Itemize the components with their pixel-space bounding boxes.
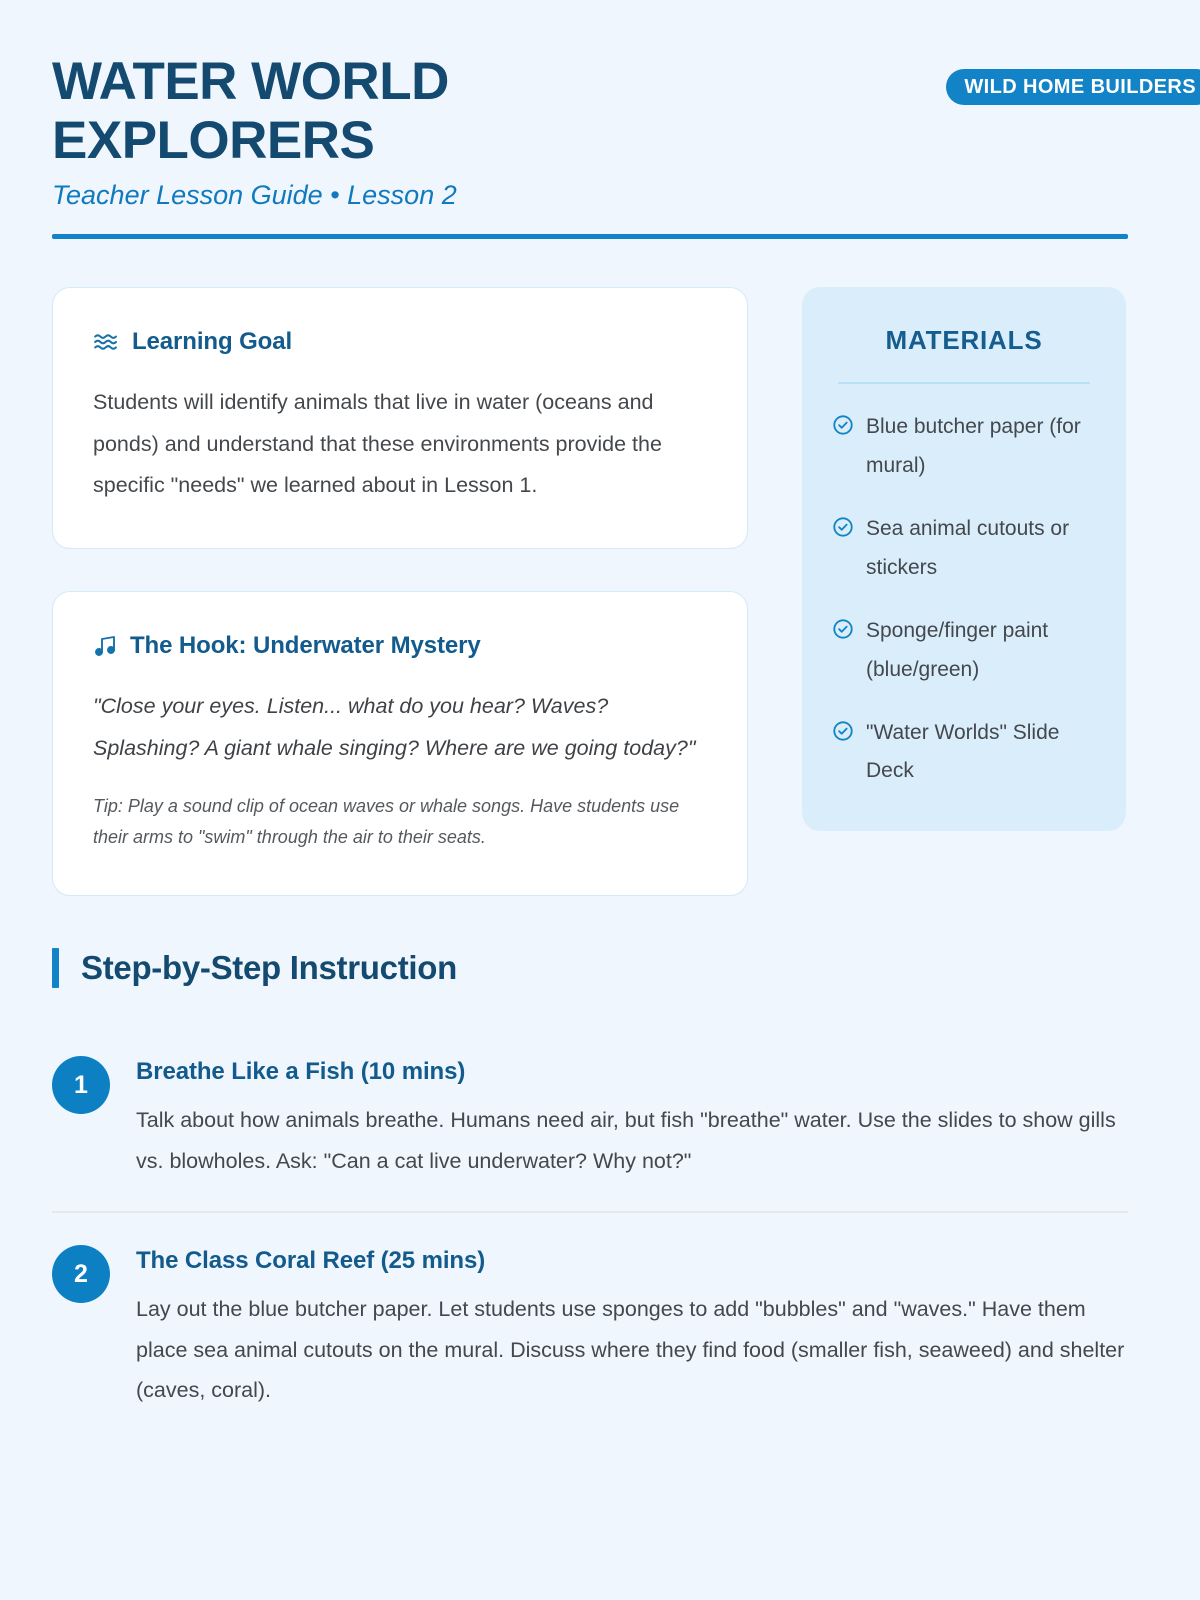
materials-list: Blue butcher paper (for mural) Sea anima… (832, 408, 1096, 791)
list-item[interactable]: Sponge/finger paint (blue/green) (832, 612, 1096, 690)
page-title: Water World Explorers (52, 52, 672, 171)
learning-goal-title: Learning Goal (132, 328, 292, 356)
check-circle-icon (832, 516, 854, 538)
side-column: Materials Blue butcher paper (for mural) (802, 287, 1126, 831)
document-header: Water World Explorers Teacher Lesson Gui… (52, 52, 1128, 249)
check-circle-icon (832, 414, 854, 436)
step-content: The Class Coral Reef (25 mins) Lay out t… (136, 1241, 1128, 1410)
step-content: Breathe Like a Fish (10 mins) Talk about… (136, 1052, 1128, 1181)
material-label: Sea animal cutouts or stickers (866, 510, 1096, 588)
hook-tip: Tip: Play a sound clip of ocean waves or… (93, 791, 707, 854)
step-text: Talk about how animals breathe. Humans n… (136, 1100, 1128, 1181)
material-label: Sponge/finger paint (blue/green) (866, 612, 1096, 690)
main-column: Learning Goal Students will identify ani… (52, 287, 748, 896)
lesson-guide-page: Water World Explorers Teacher Lesson Gui… (0, 0, 1200, 1600)
waves-icon (93, 329, 119, 355)
step-title: The Class Coral Reef (25 mins) (136, 1247, 1128, 1275)
step-text: Lay out the blue butcher paper. Let stud… (136, 1289, 1128, 1410)
music-note-icon (93, 634, 117, 658)
step-title: Breathe Like a Fish (10 mins) (136, 1058, 1128, 1086)
step-number-badge: 2 (52, 1245, 110, 1303)
page-subtitle: Teacher Lesson Guide • Lesson 2 (52, 179, 672, 213)
material-label: Blue butcher paper (for mural) (866, 408, 1096, 486)
hook-card: The Hook: Underwater Mystery "Close your… (52, 591, 748, 896)
list-item[interactable]: Sea animal cutouts or stickers (832, 510, 1096, 588)
steps-section-title: Step-by-Step Instruction (81, 949, 457, 987)
learning-goal-body: Students will identify animals that live… (93, 382, 707, 506)
unit-badge-container: WILD HOME BUILDERS (914, 68, 1200, 107)
steps-section: Step-by-Step Instruction 1 Breathe Like … (52, 948, 1128, 1410)
list-item[interactable]: "Water Worlds" Slide Deck (832, 714, 1096, 792)
learning-goal-header: Learning Goal (93, 328, 707, 356)
step-number-badge: 1 (52, 1056, 110, 1114)
step-item: 2 The Class Coral Reef (25 mins) Lay out… (52, 1211, 1128, 1410)
unit-badge: WILD HOME BUILDERS (946, 69, 1200, 105)
material-label: "Water Worlds" Slide Deck (866, 714, 1096, 792)
materials-panel: Materials Blue butcher paper (for mural) (802, 287, 1126, 831)
hook-title: The Hook: Underwater Mystery (130, 632, 481, 660)
step-item: 1 Breathe Like a Fish (10 mins) Talk abo… (52, 1024, 1128, 1181)
materials-title: Materials (832, 325, 1096, 356)
steps-section-heading: Step-by-Step Instruction (52, 948, 1128, 988)
check-circle-icon (832, 720, 854, 742)
content-area: Learning Goal Students will identify ani… (52, 287, 1128, 896)
learning-goal-card: Learning Goal Students will identify ani… (52, 287, 748, 549)
hook-quote: "Close your eyes. Listen... what do you … (93, 686, 707, 769)
section-accent-bar (52, 948, 59, 988)
header-divider (52, 234, 1128, 239)
list-item[interactable]: Blue butcher paper (for mural) (832, 408, 1096, 486)
header-text-block: Water World Explorers Teacher Lesson Gui… (52, 52, 672, 212)
materials-divider (838, 382, 1090, 384)
check-circle-icon (832, 618, 854, 640)
hook-header: The Hook: Underwater Mystery (93, 632, 707, 660)
